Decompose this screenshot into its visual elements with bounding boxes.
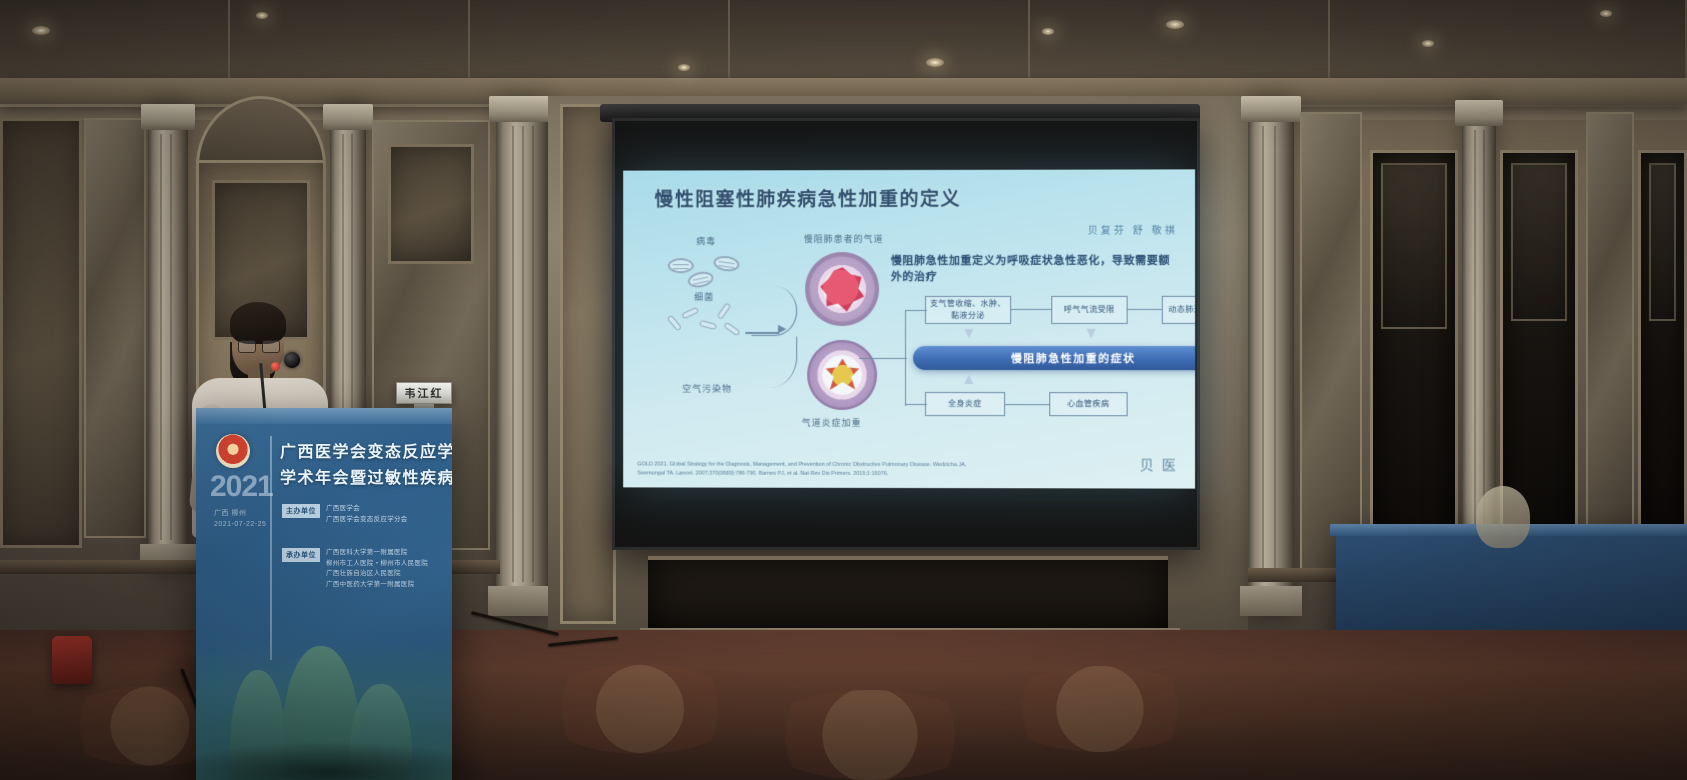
bacteria-icon [682, 307, 700, 320]
flow-left-bus-bottom [905, 404, 927, 405]
decorative-vase [1476, 486, 1530, 548]
ceiling-downlight [1042, 28, 1054, 35]
podium-top-edge [196, 408, 452, 424]
door-window [1381, 163, 1447, 329]
presenter-nameplate: 韦江红 [396, 382, 452, 404]
carpet-motif [760, 690, 980, 780]
flow-box-0: 支气管收缩、水肿、黏液分泌 [925, 296, 1011, 324]
podium-cohost-values: 广西医科大学第一附属医院 柳州市工人医院・柳州市人民医院 广西壮族自治区人民医院… [326, 548, 428, 591]
podium-cohost-row: 承办单位 广西医科大学第一附属医院 柳州市工人医院・柳州市人民医院 广西壮族自治… [282, 548, 428, 591]
conference-hall-photo: 慢性阻塞性肺疾病急性加重的定义 贝复芬 舒 敬祺 慢阻肺急性加重定义为呼吸症状急… [0, 0, 1687, 780]
flow-box-4: 心血管疾病 [1049, 392, 1127, 416]
slide-title: 慢性阻塞性肺疾病急性加重的定义 [654, 184, 961, 212]
flow-arrow-down: ▼ [1192, 326, 1195, 342]
slide-illustration: 病毒 细菌 空气污染物 ▶ 慢阻肺患者的气道 气道炎症加重 [635, 230, 886, 453]
stage-wall-panel [560, 104, 616, 624]
slide-logo: 贝 医 [1140, 456, 1178, 476]
door [1370, 150, 1458, 570]
slide-reference-footnote: GOLD 2021. Global Strategy for the Diagn… [637, 460, 968, 478]
ceiling-downlight [32, 26, 50, 35]
flow-highlight-bar: 慢阻肺急性加重的症状 [913, 346, 1195, 370]
column-flute [170, 134, 172, 540]
ceiling-downlight [256, 12, 268, 19]
flow-box-2: 动态肺过度充气 [1162, 296, 1195, 324]
slide-flowchart: 支气管收缩、水肿、黏液分泌 呼气气流受限 动态肺过度充气 ▼ ▼ ▼ 慢阻肺急性… [891, 294, 1189, 466]
microphone-head [284, 352, 300, 368]
wall-column [1248, 96, 1294, 616]
airway-cross-section-inflamed [808, 340, 878, 410]
column-flute [532, 126, 534, 582]
illustration-label-bacteria: 细菌 [694, 291, 714, 304]
door-window [1649, 163, 1676, 321]
illustration-label-airway-normal: 慢阻肺患者的气道 [804, 232, 884, 245]
podium-organizer-tag: 主办单位 [282, 504, 320, 518]
wall-marble-panel [1300, 112, 1362, 572]
lectern-podium[interactable]: 2021 广西 柳州 2021-07-22-25 广西医学会变态反应学分会 学术… [196, 408, 452, 780]
podium-title-line2: 学术年会暨过敏性疾病高峰论坛 [280, 464, 452, 488]
podium-cohost-tag: 承办单位 [282, 548, 320, 562]
ceiling-downlight [678, 64, 690, 71]
flow-arrow-down: ▼ [961, 326, 974, 342]
podium-date-text: 2021-07-22-25 [214, 521, 266, 528]
column-capital [1455, 100, 1503, 126]
flow-connector [1005, 404, 1049, 405]
stage-front-panel [648, 556, 1168, 634]
wall-marble-panel [1586, 112, 1634, 552]
column-flute [1474, 130, 1476, 556]
virus-icon [668, 259, 694, 274]
podium-year: 2021 [210, 470, 273, 504]
column-flute [522, 126, 524, 582]
red-floor-object [52, 636, 92, 684]
airway-lumen [826, 359, 860, 393]
presenter-glasses [238, 338, 280, 350]
presenter-name-text: 韦江红 [405, 385, 444, 401]
ceiling-panel [1330, 0, 1687, 80]
airway-cross-section-normal [806, 252, 880, 326]
ceiling-downlight [1600, 10, 1612, 17]
podium-divider [270, 436, 272, 660]
flow-arrow-down: ▼ [1083, 326, 1096, 342]
projected-slide: 慢性阻塞性肺疾病急性加重的定义 贝复芬 舒 敬祺 慢阻肺急性加重定义为呼吸症状急… [623, 169, 1195, 488]
podium-organizer-values: 广西医学会 广西医学会变态反应学分会 [326, 504, 408, 525]
airway-lumen [820, 267, 864, 311]
door-window [1511, 163, 1567, 321]
wall-column [496, 96, 548, 616]
illustration-label-airway-inflamed: 气道炎症加重 [802, 416, 862, 429]
column-flute [1274, 126, 1276, 582]
virus-icon [713, 255, 741, 273]
column-flute [1483, 130, 1485, 556]
slide-definition-statement: 慢阻肺急性加重定义为呼吸症状急性恶化，导致需要额外的治疗 [891, 252, 1178, 285]
flow-arrow-up: ▲ [961, 372, 974, 388]
wall-marble-panel [84, 118, 146, 538]
podium-place-date: 广西 柳州 2021-07-22-25 [214, 508, 266, 530]
wall-panel-inset [388, 144, 474, 264]
flow-box-1: 呼气气流受限 [1051, 296, 1127, 324]
podium-shadow [168, 742, 488, 780]
flow-box-3: 全身炎症 [925, 392, 1005, 416]
column-capital [323, 104, 373, 130]
microphone-windscreen [271, 362, 280, 371]
column-base [488, 586, 556, 616]
bacteria-icon [724, 322, 741, 337]
slide-brand-mark: 贝复芬 舒 敬祺 [1088, 222, 1178, 237]
illustration-curve-lower [752, 336, 798, 388]
ceiling-downlight [1422, 40, 1434, 47]
column-flute [1262, 126, 1264, 582]
column-flute [160, 134, 162, 540]
wall-panel [0, 118, 82, 548]
bacteria-icon [667, 315, 682, 332]
bacteria-icon [717, 303, 732, 320]
ceiling-panel [0, 0, 230, 80]
flow-connector [1127, 309, 1161, 310]
flow-left-bus-mid [859, 358, 907, 359]
ceiling-downlight [1166, 20, 1184, 29]
podium-place-text: 广西 柳州 [214, 510, 246, 517]
column-flute [512, 126, 514, 582]
column-capital [489, 96, 555, 122]
association-emblem-icon [216, 434, 250, 468]
flow-connector [1011, 309, 1051, 310]
podium-title-line1: 广西医学会变态反应学分会 [280, 438, 452, 462]
ceiling-panel [730, 0, 1030, 80]
virus-icon [687, 270, 715, 290]
illustration-label-virus: 病毒 [696, 235, 716, 248]
bacteria-icon [700, 320, 718, 330]
ceiling-downlight [926, 58, 944, 67]
podium-organizer-row: 主办单位 广西医学会 广西医学会变态反应学分会 [282, 504, 408, 525]
carpet-motif [1000, 666, 1200, 752]
illustration-curve-upper [752, 286, 798, 336]
wall-column [148, 104, 188, 574]
column-capital [1241, 96, 1301, 122]
door [1638, 150, 1687, 550]
illustration-label-pollutants: 空气污染物 [682, 382, 732, 395]
flow-left-bus-top [905, 310, 927, 311]
column-base [1240, 586, 1302, 616]
carpet-motif [540, 664, 740, 754]
ceiling-panel [1030, 0, 1330, 80]
column-capital [141, 104, 195, 130]
ceiling-panel [470, 0, 730, 80]
